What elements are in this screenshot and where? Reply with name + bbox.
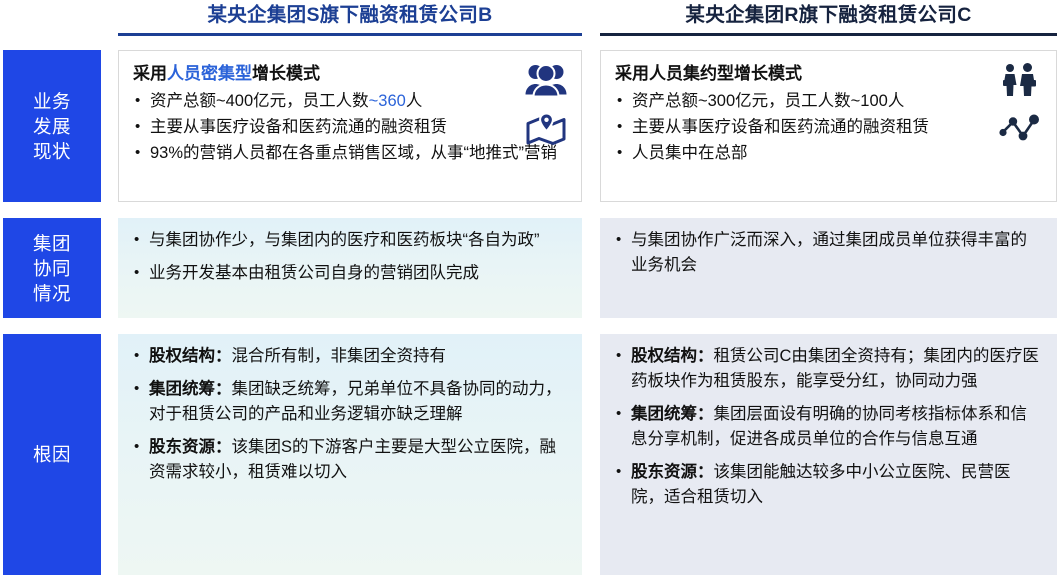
list-item: 人员集中在总部 <box>615 141 1042 166</box>
list-item: 集团统筹：集团缺乏统筹，兄弟单位不具备协同的动力，对于租赁公司的产品和业务逻辑亦… <box>132 377 568 427</box>
business-status-right-bullets: 资产总额~300亿元，员工人数~100人 主要从事医疗设备和医药流通的融资租赁 … <box>615 89 1042 166</box>
two-business-people-icon <box>999 63 1039 102</box>
row-label-line-3: 现状 <box>33 139 71 164</box>
cell-business-status-right: 采用人员集约型增长模式 资产总额~300亿元，员工人数~100人 主要从事医疗设… <box>600 50 1057 202</box>
list-item: 93%的营销人员都在各重点销售区域，从事“地推式”营销 <box>133 141 567 166</box>
row-root-cause: 根因 股权结构：混合所有制，非集团全资持有 集团统筹：集团缺乏统筹，兄弟单位不具… <box>0 334 1063 575</box>
network-nodes-icon <box>998 112 1040 147</box>
comparison-slide: 某央企集团S旗下融资租赁公司B 某央企集团R旗下融资租赁公司C 业务 发展 现状… <box>0 0 1063 579</box>
business-status-left-icons <box>525 63 567 151</box>
bullet-term: 股东资源： <box>149 438 232 456</box>
list-item: 业务开发基本由租赁公司自身的营销团队完成 <box>132 261 568 286</box>
row-group-synergy: 集团 协同 情况 与集团协作少，与集团内的医疗和医药板块“各自为政” 业务开发基… <box>0 218 1063 318</box>
row-label-line-3: 情况 <box>33 281 71 306</box>
bullet-term: 股权结构： <box>631 347 714 365</box>
list-item: 股东资源：该集团能触达较多中小公立医院、民营医院，适合租赁切入 <box>614 460 1043 510</box>
group-synergy-right-bullets: 与集团协作广泛而深入，通过集团成员单位获得丰富的业务机会 <box>614 228 1043 278</box>
column-header-right-rule <box>600 33 1057 36</box>
lead-pre: 采用人员集约型增长模式 <box>615 64 802 83</box>
list-item: 主要从事医疗设备和医药流通的融资租赁 <box>133 115 567 140</box>
bullet-term: 集团统筹： <box>149 380 232 398</box>
group-synergy-left-bullets: 与集团协作少，与集团内的医疗和医药板块“各自为政” 业务开发基本由租赁公司自身的… <box>132 228 568 286</box>
row-label-line-1: 集团 <box>33 231 71 256</box>
column-header-left: 某央企集团S旗下融资租赁公司B <box>118 2 582 36</box>
list-item: 资产总额~400亿元，员工人数~360人 <box>133 89 567 114</box>
root-cause-left-bullets: 股权结构：混合所有制，非集团全资持有 集团统筹：集团缺乏统筹，兄弟单位不具备协同… <box>132 344 568 485</box>
lead-pre: 采用 <box>133 64 167 83</box>
list-item: 股权结构：混合所有制，非集团全资持有 <box>132 344 568 369</box>
column-header-right: 某央企集团R旗下融资租赁公司C <box>600 2 1057 36</box>
business-status-left-lead: 采用人员密集型增长模式 <box>133 61 567 87</box>
bullet-term: 集团统筹： <box>631 405 714 423</box>
row-label-line-1: 业务 <box>33 89 71 114</box>
row-label-business-status: 业务 发展 现状 <box>3 50 101 202</box>
lead-highlight: 人员密集型 <box>167 64 252 83</box>
list-item: 股东资源：该集团S的下游客户主要是大型公立医院，融资需求较小，租赁难以切入 <box>132 435 568 485</box>
root-cause-right-bullets: 股权结构：租赁公司C由集团全资持有；集团内的医疗医药板块作为租赁股东，能享受分红… <box>614 344 1043 510</box>
column-header-left-rule <box>118 33 582 36</box>
list-item: 集团统筹：集团层面设有明确的协同考核指标体系和信息分享机制，促进各成员单位的合作… <box>614 402 1043 452</box>
list-item: 与集团协作广泛而深入，通过集团成员单位获得丰富的业务机会 <box>614 228 1043 278</box>
cell-root-cause-right: 股权结构：租赁公司C由集团全资持有；集团内的医疗医药板块作为租赁股东，能享受分红… <box>600 334 1057 575</box>
group-people-icon <box>525 63 567 102</box>
bullet-text: 业务开发基本由租赁公司自身的营销团队完成 <box>149 264 479 282</box>
column-header-right-title: 某央企集团R旗下融资租赁公司C <box>600 2 1057 28</box>
bullet-text: 与集团协作少，与集团内的医疗和医药板块“各自为政” <box>149 231 540 249</box>
list-item: 资产总额~300亿元，员工人数~100人 <box>615 89 1042 114</box>
row-label-line-2: 协同 <box>33 256 71 281</box>
row-label-line-1: 根因 <box>33 442 71 467</box>
bullet-term: 股东资源： <box>631 463 714 481</box>
bullet-text-post: 人 <box>406 92 423 110</box>
list-item: 与集团协作少，与集团内的医疗和医药板块“各自为政” <box>132 228 568 253</box>
bullet-text: 资产总额~400亿元，员工人数 <box>150 92 369 110</box>
bullet-text: 主要从事医疗设备和医药流通的融资租赁 <box>632 118 929 136</box>
row-label-line-2: 发展 <box>33 114 71 139</box>
list-item: 主要从事医疗设备和医药流通的融资租赁 <box>615 115 1042 140</box>
row-label-root-cause: 根因 <box>3 334 101 575</box>
bullet-text: 93%的营销人员都在各重点销售区域，从事“地推式”营销 <box>150 144 557 162</box>
column-headers: 某央企集团S旗下融资租赁公司B 某央企集团R旗下融资租赁公司C <box>0 0 1063 42</box>
bullet-text: 资产总额~300亿元，员工人数~100人 <box>632 92 904 110</box>
map-pin-icon <box>526 112 566 151</box>
cell-root-cause-left: 股权结构：混合所有制，非集团全资持有 集团统筹：集团缺乏统筹，兄弟单位不具备协同… <box>118 334 582 575</box>
row-label-group-synergy: 集团 协同 情况 <box>3 218 101 318</box>
bullet-highlight: ~360 <box>369 92 406 110</box>
column-header-left-title: 某央企集团S旗下融资租赁公司B <box>118 2 582 28</box>
lead-post: 增长模式 <box>252 64 320 83</box>
bullet-text: 混合所有制，非集团全资持有 <box>232 347 447 365</box>
row-business-status: 业务 发展 现状 采用人员密集型增长模式 资产总额~400亿元，员工人数~360… <box>0 50 1063 202</box>
list-item: 股权结构：租赁公司C由集团全资持有；集团内的医疗医药板块作为租赁股东，能享受分红… <box>614 344 1043 394</box>
bullet-text: 与集团协作广泛而深入，通过集团成员单位获得丰富的业务机会 <box>631 231 1027 274</box>
cell-group-synergy-left: 与集团协作少，与集团内的医疗和医药板块“各自为政” 业务开发基本由租赁公司自身的… <box>118 218 582 318</box>
cell-group-synergy-right: 与集团协作广泛而深入，通过集团成员单位获得丰富的业务机会 <box>600 218 1057 318</box>
business-status-right-lead: 采用人员集约型增长模式 <box>615 61 1042 87</box>
bullet-term: 股权结构： <box>149 347 232 365</box>
bullet-text: 人员集中在总部 <box>632 144 748 162</box>
bullet-text: 主要从事医疗设备和医药流通的融资租赁 <box>150 118 447 136</box>
business-status-left-bullets: 资产总额~400亿元，员工人数~360人 主要从事医疗设备和医药流通的融资租赁 … <box>133 89 567 166</box>
business-status-right-icons <box>998 63 1040 147</box>
cell-business-status-left: 采用人员密集型增长模式 资产总额~400亿元，员工人数~360人 主要从事医疗设… <box>118 50 582 202</box>
